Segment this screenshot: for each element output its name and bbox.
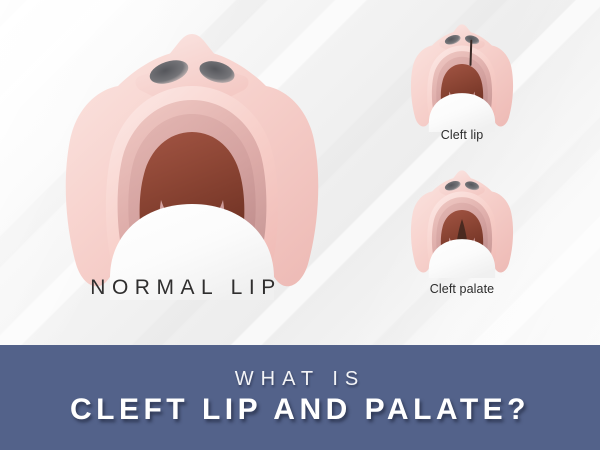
banner-line-2: CLEFT LIP AND PALATE? <box>70 393 530 427</box>
cleft-line <box>470 41 471 65</box>
cleft-lip-caption: Cleft lip <box>404 128 520 142</box>
cleft-lip-svg <box>404 22 520 132</box>
normal-lip-caption: NORMAL LIP <box>0 276 372 300</box>
banner-line-1: WHAT IS <box>235 368 365 391</box>
cleft-palate-svg <box>404 168 520 278</box>
cleft-palate-illustration <box>404 168 520 278</box>
normal-lip-illustration <box>52 28 332 300</box>
infographic-canvas: NORMAL LIP Cleft lip <box>0 0 600 450</box>
cleft-palate-caption: Cleft palate <box>400 282 524 296</box>
normal-lip-svg <box>52 28 332 300</box>
title-banner: WHAT IS CLEFT LIP AND PALATE? <box>0 345 600 450</box>
cleft-lip-illustration <box>404 22 520 132</box>
